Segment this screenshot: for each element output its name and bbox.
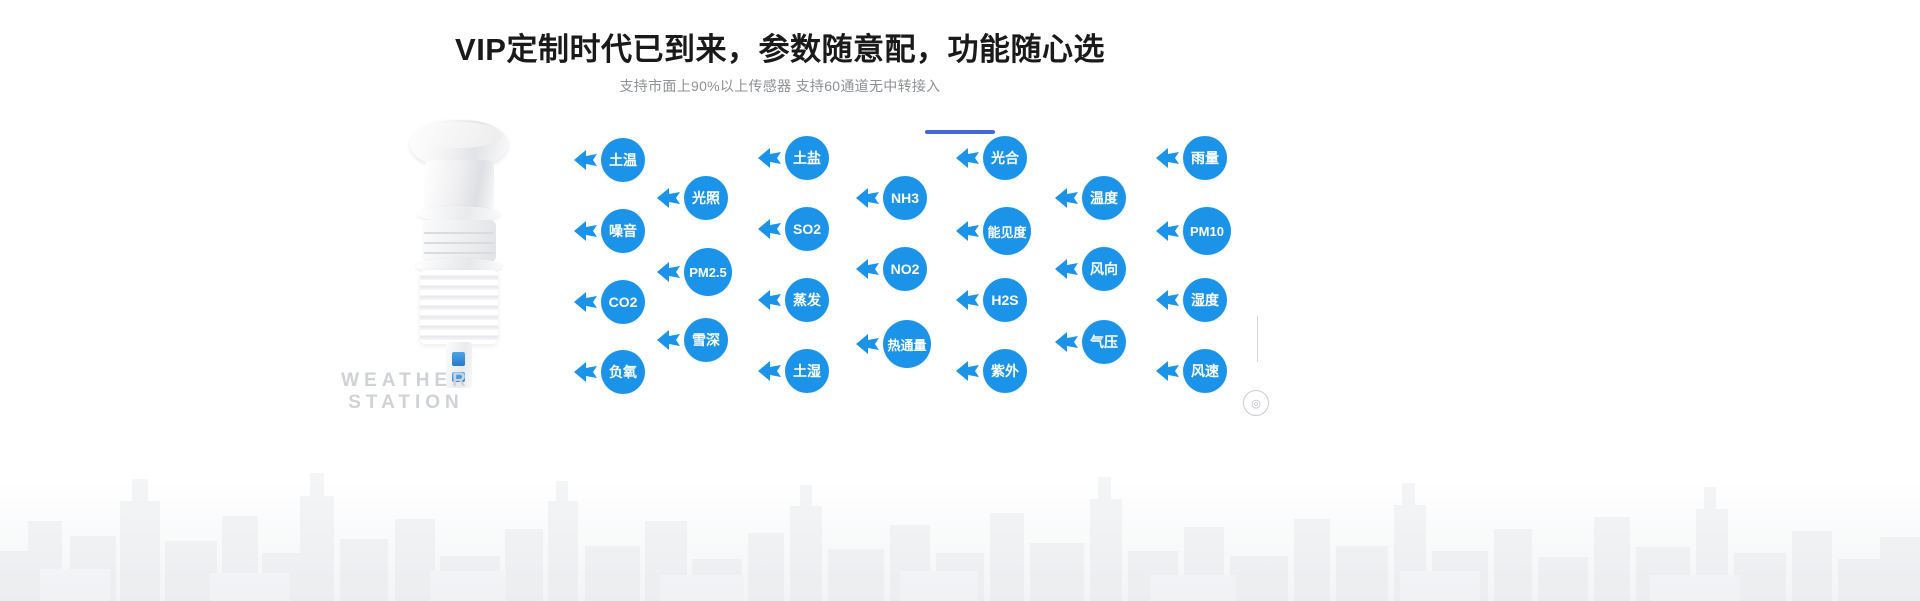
banner-stage: VIP定制时代已到来，参数随意配，功能随心选 支持市面上90%以上传感器 支持6… [0,0,1920,601]
sensor-bubble-label: 噪音 [601,209,645,253]
sensor-bubble[interactable]: 土盐 [757,136,829,180]
weather-station-image [400,120,520,400]
sensor-bubble[interactable]: 土温 [573,138,645,182]
sensor-bubble-label: 紫外 [983,349,1027,393]
sensor-bubble[interactable]: 能见度 [955,207,1031,255]
sensor-bubble[interactable]: CO2 [573,280,645,324]
sensor-bubble-label: 土湿 [785,349,829,393]
sensor-bubble[interactable]: 热通量 [855,320,931,368]
sensor-bubble[interactable]: 雪深 [656,318,728,362]
watermark-line-1: WEATHER [306,370,506,392]
sensor-bubble-label: 风速 [1183,349,1227,393]
sensor-bubble[interactable]: 温度 [1054,176,1126,220]
sensor-bubble[interactable]: 雨量 [1155,136,1227,180]
page-subtitle: 支持市面上90%以上传感器 支持60通道无中转接入 [0,76,1560,96]
watermark-line-2: STATION [306,392,506,414]
sensor-bubble-label: CO2 [601,280,645,324]
sensor-bubble[interactable]: NH3 [855,176,927,220]
sensor-bubble-label: 光照 [684,176,728,220]
sensor-bubble-label: 能见度 [983,207,1031,255]
city-skyline-silhouette [0,401,1920,601]
sensor-bubble[interactable]: 光合 [955,136,1027,180]
sensor-bubble-label: 风向 [1082,247,1126,291]
sensor-bubble[interactable]: 紫外 [955,349,1027,393]
product-watermark: WEATHER STATION [306,370,506,414]
sensor-bubble[interactable]: 湿度 [1155,278,1227,322]
sensor-bubble[interactable]: 风向 [1054,247,1126,291]
sensor-bubble-label: PM10 [1183,207,1231,255]
sensor-bubble[interactable]: 气压 [1054,320,1126,364]
sensor-bubble-label: 气压 [1082,320,1126,364]
page-title: VIP定制时代已到来，参数随意配，功能随心选 [0,24,1560,69]
sensor-bubble-label: 雨量 [1183,136,1227,180]
sensor-bubble-label: NO2 [883,247,927,291]
sensor-bubble-label: 土温 [601,138,645,182]
sensor-bubble[interactable]: PM10 [1155,207,1231,255]
sensor-bubble[interactable]: 光照 [656,176,728,220]
logo-badge: ◎ [1243,390,1269,416]
sensor-bubble-label: 湿度 [1183,278,1227,322]
sensor-bubble[interactable]: SO2 [757,207,829,251]
sensor-bubble[interactable]: 噪音 [573,209,645,253]
sensor-bubble[interactable]: PM2.5 [656,248,732,296]
sensor-bubble-label: 热通量 [883,320,931,368]
sensor-bubble[interactable]: 土湿 [757,349,829,393]
sensor-bubble-label: H2S [983,278,1027,322]
sensor-bubble-label: 雪深 [684,318,728,362]
sensor-bubble[interactable]: NO2 [855,247,927,291]
sensor-bubble-label: NH3 [883,176,927,220]
sensor-bubble[interactable]: 蒸发 [757,278,829,322]
sensor-bubble[interactable]: 风速 [1155,349,1227,393]
sensor-bubble-label: SO2 [785,207,829,251]
sensor-bubble-label: 土盐 [785,136,829,180]
title-divider [925,130,995,134]
sensor-bubble[interactable]: 负氧 [573,350,645,394]
sensor-bubble[interactable]: H2S [955,278,1027,322]
sensor-bubble-label: 温度 [1082,176,1126,220]
sensor-bubble-label: PM2.5 [684,248,732,296]
sensor-bubble-label: 负氧 [601,350,645,394]
sensor-bubble-label: 蒸发 [785,278,829,322]
sensor-bubble-label: 光合 [983,136,1027,180]
decorative-line [1257,316,1258,362]
